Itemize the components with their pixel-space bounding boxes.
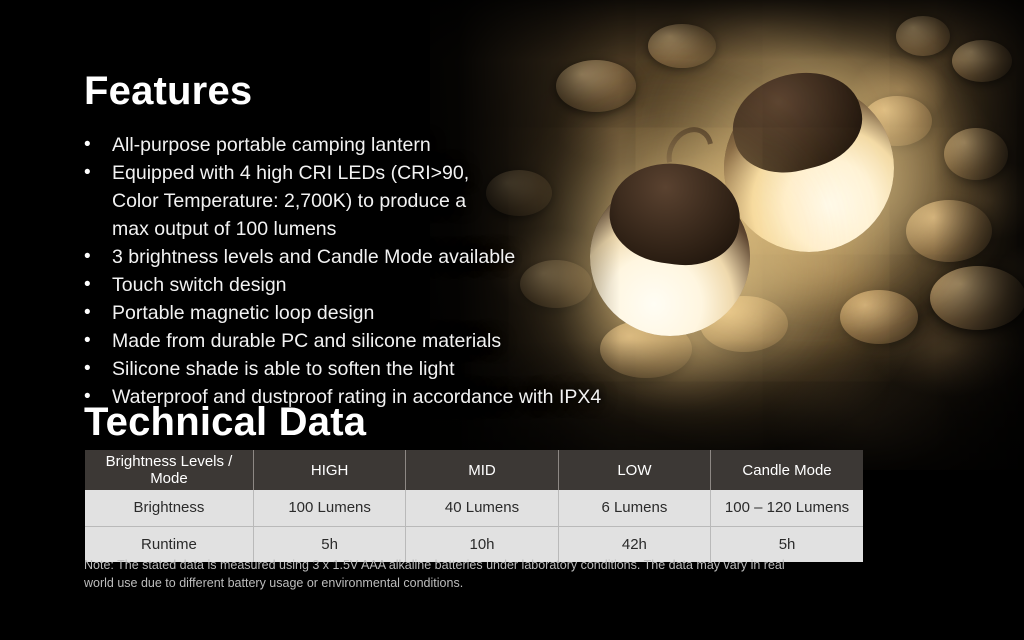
bullet-marker: •	[84, 299, 112, 327]
feature-text: All-purpose portable camping lantern	[112, 131, 431, 159]
feature-text: Portable magnetic loop design	[112, 299, 374, 327]
table-header-cell: MID	[406, 450, 558, 490]
feature-text: Silicone shade is able to soften the lig…	[112, 355, 455, 383]
table-note: Note: The stated data is measured using …	[84, 556, 874, 592]
table-header-cell: Brightness Levels / Mode	[85, 450, 253, 490]
feature-item: • Equipped with 4 high CRI LEDs (CRI>90,…	[84, 159, 704, 243]
table-row: Brightness 100 Lumens 40 Lumens 6 Lumens…	[85, 490, 863, 526]
features-list: • All-purpose portable camping lantern •…	[84, 131, 704, 411]
table-header-cell: HIGH	[253, 450, 405, 490]
feature-text: Equipped with 4 high CRI LEDs (CRI>90, C…	[112, 159, 469, 243]
feature-text: Made from durable PC and silicone materi…	[112, 327, 501, 355]
table-header-row: Brightness Levels / Mode HIGH MID LOW Ca…	[85, 450, 863, 490]
table-cell: 6 Lumens	[558, 490, 710, 526]
table-cell: 100 Lumens	[253, 490, 405, 526]
feature-item: • All-purpose portable camping lantern	[84, 131, 704, 159]
bullet-marker: •	[84, 159, 112, 187]
feature-item: • Made from durable PC and silicone mate…	[84, 327, 704, 355]
feature-text: 3 brightness levels and Candle Mode avai…	[112, 243, 515, 271]
bullet-marker: •	[84, 131, 112, 159]
table-header-cell: LOW	[558, 450, 710, 490]
bullet-marker: •	[84, 355, 112, 383]
bullet-marker: •	[84, 327, 112, 355]
table-cell: 40 Lumens	[406, 490, 558, 526]
features-heading: Features	[84, 69, 252, 114]
bullet-marker: •	[84, 271, 112, 299]
technical-data-heading: Technical Data	[84, 400, 366, 445]
feature-text: Touch switch design	[112, 271, 287, 299]
row-label: Brightness	[85, 490, 253, 526]
feature-item: • 3 brightness levels and Candle Mode av…	[84, 243, 704, 271]
bullet-marker: •	[84, 243, 112, 271]
table-header-cell: Candle Mode	[711, 450, 863, 490]
table-cell: 100 – 120 Lumens	[711, 490, 863, 526]
feature-item: • Silicone shade is able to soften the l…	[84, 355, 704, 383]
feature-item: • Portable magnetic loop design	[84, 299, 704, 327]
feature-item: • Touch switch design	[84, 271, 704, 299]
technical-data-table: Brightness Levels / Mode HIGH MID LOW Ca…	[85, 450, 863, 562]
